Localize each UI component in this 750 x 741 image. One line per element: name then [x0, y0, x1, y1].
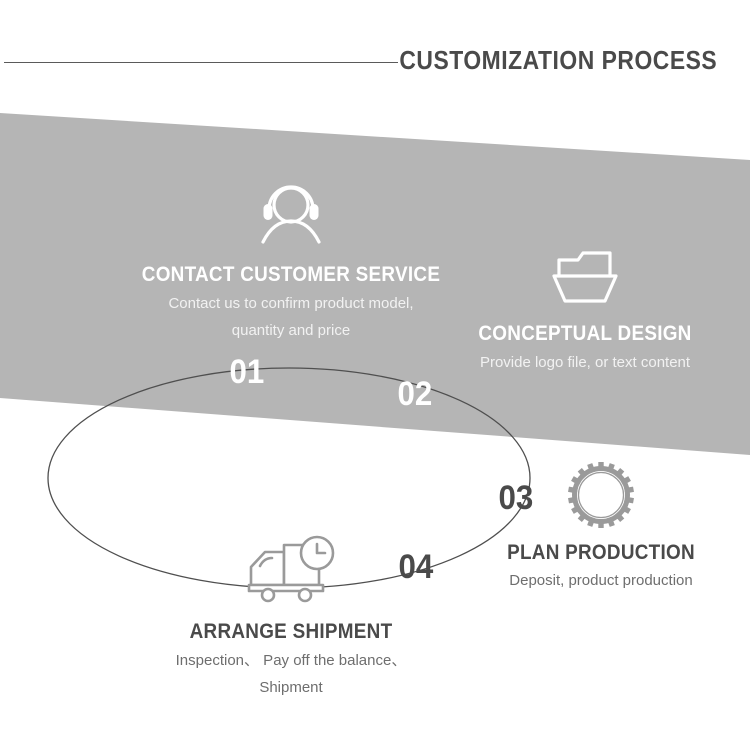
page-title: CUSTOMIZATION PROCESS — [399, 40, 717, 80]
gear-icon — [568, 462, 634, 528]
step-number-03: 03 — [499, 479, 534, 517]
folder-icon — [548, 246, 622, 308]
step-desc-line-1: Inspection、 Pay off the balance、 — [138, 650, 444, 672]
step-title: ARRANGE SHIPMENT — [153, 619, 428, 645]
step-desc-line-1: Provide logo file, or text content — [420, 352, 750, 374]
step-number-04: 04 — [399, 548, 434, 586]
step-desc-line-1: Deposit, product production — [470, 570, 732, 592]
step-number-02: 02 — [398, 375, 433, 413]
step-conceptual-design: CONCEPTUAL DESIGN Provide logo file, or … — [420, 246, 750, 374]
step-number-01: 01 — [230, 353, 265, 391]
step-title: CONCEPTUAL DESIGN — [437, 321, 734, 347]
step-desc-line-2: Shipment — [138, 677, 444, 699]
header-rule-icon — [4, 62, 398, 63]
customization-process-infographic: CUSTOMIZATION PROCESS CONTACT CUSTOMER S… — [0, 0, 750, 741]
headset-icon — [252, 176, 330, 248]
header: CUSTOMIZATION PROCESS — [0, 40, 750, 88]
step-title: PLAN PRODUCTION — [483, 540, 719, 566]
delivery-truck-clock-icon — [243, 533, 339, 605]
